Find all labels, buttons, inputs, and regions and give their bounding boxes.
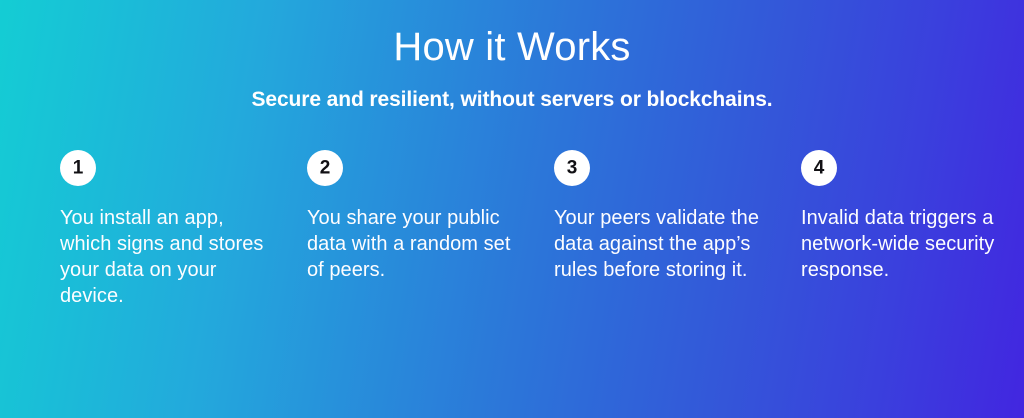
step-description: Your peers validate the data against the…	[554, 186, 759, 283]
step-item-1: 1 You install an app, which signs and st…	[60, 150, 307, 309]
step-number-badge-4: 4	[801, 150, 837, 186]
steps-row: 1 You install an app, which signs and st…	[60, 150, 1024, 309]
step-item-3: 3 Your peers validate the data against t…	[554, 150, 801, 283]
step-description: You install an app, which signs and stor…	[60, 186, 265, 309]
step-item-4: 4 Invalid data triggers a network-wide s…	[801, 150, 1024, 283]
step-number-label: 3	[567, 158, 578, 177]
step-item-2: 2 You share your public data with a rand…	[307, 150, 554, 283]
banner-heading-block: How it Works Secure and resilient, witho…	[0, 22, 1024, 114]
step-number-badge-1: 1	[60, 150, 96, 186]
how-it-works-banner: How it Works Secure and resilient, witho…	[0, 0, 1024, 418]
page-subtitle: Secure and resilient, without servers or…	[0, 72, 1024, 114]
step-number-badge-3: 3	[554, 150, 590, 186]
step-number-badge-2: 2	[307, 150, 343, 186]
step-number-label: 4	[814, 158, 825, 177]
step-description: Invalid data triggers a network-wide sec…	[801, 186, 1006, 283]
step-number-label: 2	[320, 158, 331, 177]
step-description: You share your public data with a random…	[307, 186, 512, 283]
step-number-label: 1	[73, 158, 84, 177]
page-title: How it Works	[0, 22, 1024, 72]
